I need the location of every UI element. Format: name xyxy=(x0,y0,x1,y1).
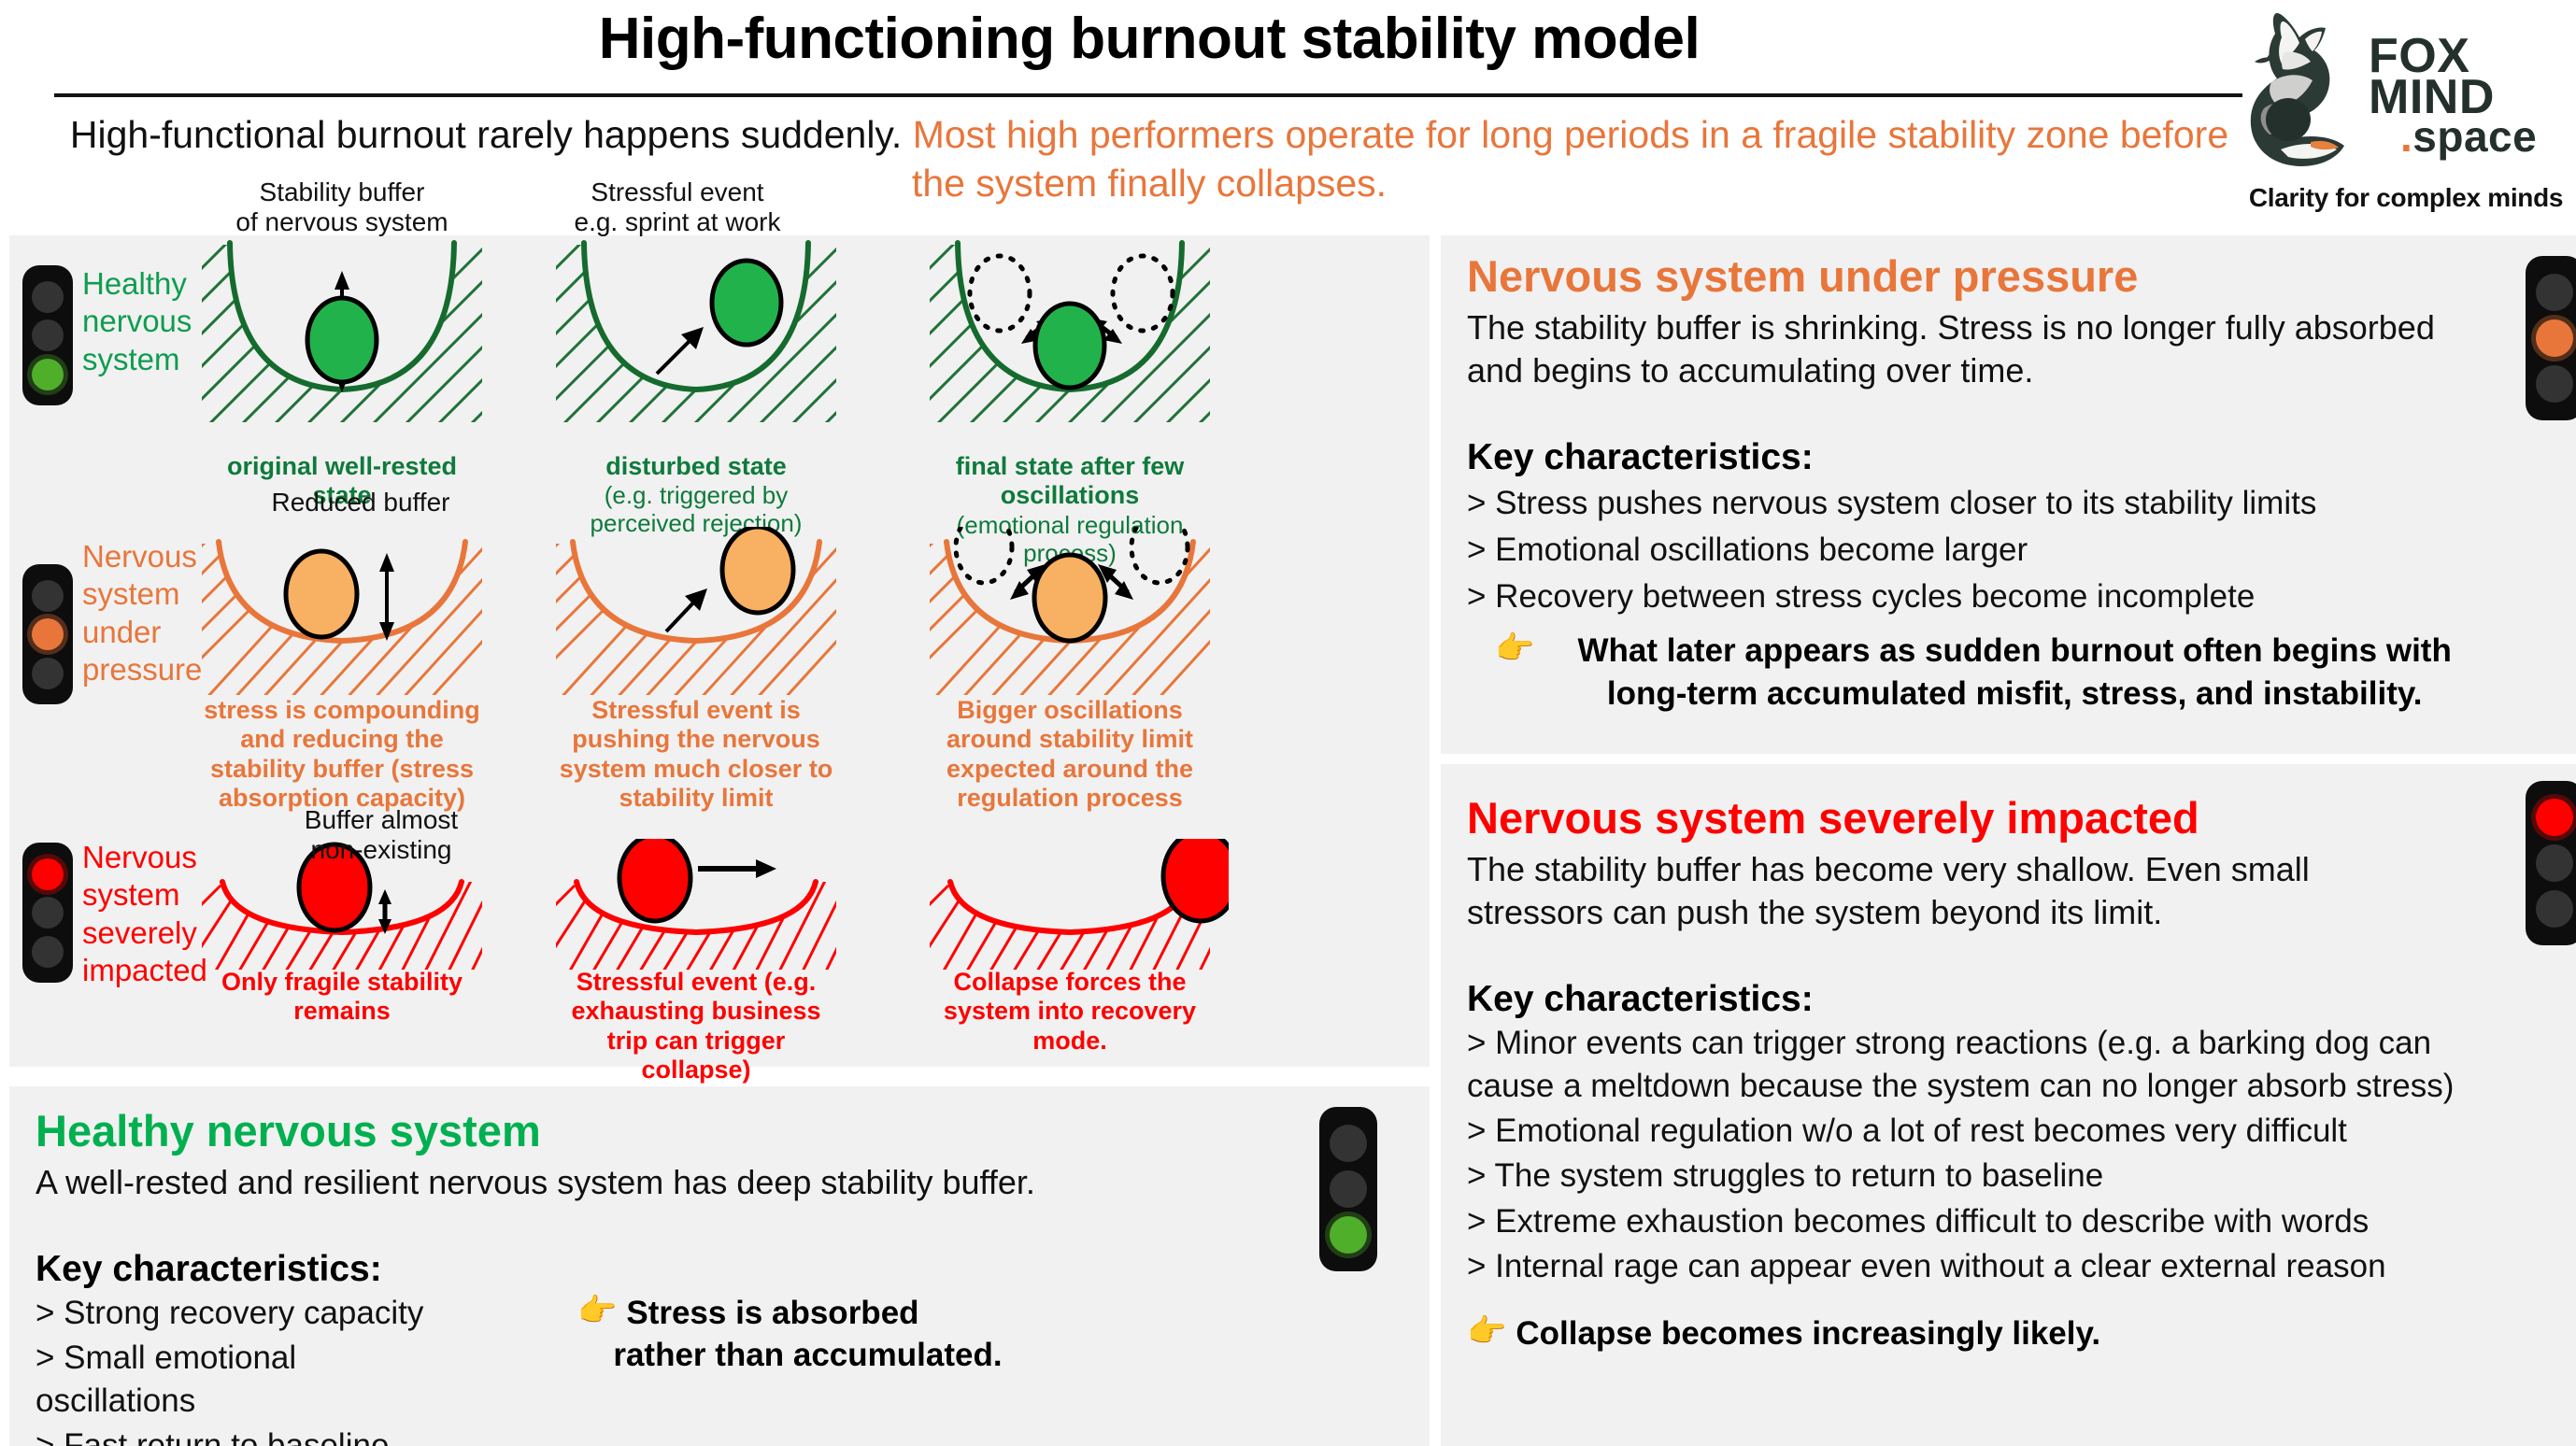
traffic-light-red-panel xyxy=(2526,781,2576,945)
traffic-light-orange xyxy=(22,564,73,704)
lamp-yellow xyxy=(32,319,64,351)
severe-key-heading: Key characteristics: xyxy=(1467,979,2523,1020)
diagram-row-healthy: Healthy nervous system xyxy=(9,235,1430,527)
caption-healthy-2: disturbed state (e.g. triggered by perce… xyxy=(556,452,836,538)
lamp-red xyxy=(32,580,64,612)
row-label-healthy: Healthy nervous system xyxy=(82,265,198,378)
diagram-cell-healthy-1: Stability bufferof nervous system origin… xyxy=(202,235,482,511)
note-stressful-event: Stressful evente.g. sprint at work xyxy=(537,177,818,237)
healthy-heading: Healthy nervous system xyxy=(36,1107,1297,1155)
well-shallow-orange-1 xyxy=(202,527,482,700)
subtitle-part-accent: Most high performers operate for long pe… xyxy=(912,113,2228,205)
lamp-green xyxy=(2536,365,2573,403)
diagram-row-pressure: Nervous system under pressure xyxy=(9,527,1430,826)
diagram-cell-healthy-3: final state after few oscillations (emot… xyxy=(930,235,1210,567)
lamp-green xyxy=(32,658,64,689)
severe-bullet-2: > Emotional regulation w/o a lot of rest… xyxy=(1467,1110,2523,1153)
title-divider xyxy=(54,93,2242,97)
healthy-bullet-3: > Fast return to baseline xyxy=(36,1425,465,1446)
severe-bullet-3: > The system struggles to return to base… xyxy=(1467,1155,2523,1198)
diagram-cell-pressure-2: Stressful event is pushing the nervous s… xyxy=(556,527,836,813)
caption-healthy-2-main: disturbed state xyxy=(605,452,787,480)
traffic-light-orange-panel xyxy=(2526,256,2576,420)
lamp-yellow xyxy=(32,897,64,929)
lamp-yellow xyxy=(2536,844,2573,882)
caption-severe-3: Collapse forces the system into recovery… xyxy=(930,968,1210,1056)
pointer-icon: 👉 xyxy=(577,1292,617,1329)
well-shallow-orange-2 xyxy=(556,527,836,700)
page-title: High-functioning burnout stability model xyxy=(56,6,2242,72)
healthy-body: A well-rested and resilient nervous syst… xyxy=(36,1161,1297,1204)
caption-healthy-3-main: final state after few oscillations xyxy=(956,452,1185,509)
pressure-note: What later appears as sudden burnout oft… xyxy=(1544,630,2485,715)
severe-heading: Nervous system severely impacted xyxy=(1467,794,2523,843)
well-shallow-orange-3 xyxy=(930,527,1210,700)
pressure-body: The stability buffer is shrinking. Stres… xyxy=(1467,306,2485,392)
diagram-cell-severe-3: Collapse forces the system into recovery… xyxy=(930,839,1210,1056)
caption-pressure-3: Bigger oscillations around stability lim… xyxy=(930,696,1210,813)
lamp-green-on xyxy=(32,359,64,390)
well-flat-red-3 xyxy=(930,839,1229,970)
lamp-orange-on xyxy=(2536,319,2573,357)
severe-info-panel: Nervous system severely impacted The sta… xyxy=(1441,764,2576,1446)
healthy-bullet-2: > Small emotional oscillations xyxy=(36,1337,465,1423)
severe-bullet-4: > Extreme exhaustion becomes difficult t… xyxy=(1467,1200,2523,1243)
lamp-red-on xyxy=(2536,799,2573,836)
healthy-info-panel: Healthy nervous system A well-rested and… xyxy=(9,1086,1430,1446)
pointer-icon: 👉 xyxy=(1467,1312,1506,1355)
pressure-heading: Nervous system under pressure xyxy=(1467,252,2485,301)
diagram-cell-severe-1: Buffer almostnon-existing Only fragile s… xyxy=(202,839,482,1027)
well-deep-green-3 xyxy=(930,235,1210,450)
caption-pressure-2: Stressful event is pushing the nervous s… xyxy=(556,696,836,813)
lamp-red xyxy=(32,281,64,313)
caption-severe-2: Stressful event (e.g. exhausting busines… xyxy=(556,968,836,1084)
brand-logo: FOX MIND .space Clarity for complex mind… xyxy=(2240,4,2572,228)
pressure-bullet-2: > Emotional oscillations become larger xyxy=(1467,529,2485,572)
well-deep-green-1 xyxy=(202,235,482,450)
healthy-note-line2: rather than accumulated. xyxy=(613,1334,1002,1377)
severe-note: Collapse becomes increasingly likely. xyxy=(1516,1312,2100,1355)
pressure-bullet-3: > Recovery between stress cycles become … xyxy=(1467,575,2485,618)
traffic-light-green-panel xyxy=(1319,1107,1377,1271)
logo-dot: . xyxy=(2400,112,2412,161)
diagram-cell-healthy-2: Stressful evente.g. sprint at work distu… xyxy=(556,235,836,538)
lamp-green xyxy=(2536,890,2573,928)
row-label-pressure: Nervous system under pressure xyxy=(82,538,198,688)
logo-line-space: .space xyxy=(2400,119,2537,156)
caption-pressure-1: stress is compounding and reducing the s… xyxy=(202,696,482,813)
lamp-green-on xyxy=(1330,1216,1367,1254)
lamp-red xyxy=(1330,1125,1367,1162)
diagram-cell-severe-2: Stressful event (e.g. exhausting busines… xyxy=(556,839,836,1084)
pressure-bullet-1: > Stress pushes nervous system closer to… xyxy=(1467,482,2485,525)
traffic-light-red xyxy=(22,843,73,983)
caption-severe-1: Only fragile stability remains xyxy=(202,968,482,1027)
well-deep-green-2 xyxy=(556,235,836,450)
note-buffer-almost-none: Buffer almostnon-existing xyxy=(241,805,521,865)
note-reduced-buffer: Reduced buffer xyxy=(221,488,501,517)
healthy-note-line1: Stress is absorbed xyxy=(626,1292,1002,1335)
lamp-yellow xyxy=(1330,1170,1367,1208)
pressure-key-heading: Key characteristics: xyxy=(1467,437,2485,478)
lamp-green xyxy=(32,936,64,968)
severe-bullet-1: > Minor events can trigger strong reacti… xyxy=(1467,1022,2523,1108)
diagram-cell-pressure-3: Bigger oscillations around stability lim… xyxy=(930,527,1210,813)
well-flat-red-2 xyxy=(556,839,836,970)
severe-bullet-5: > Internal rage can appear even without … xyxy=(1467,1245,2523,1288)
diagram-row-severe: Nervous system severely impacted xyxy=(9,826,1430,1067)
pressure-info-panel: Nervous system under pressure The stabil… xyxy=(1441,235,2576,754)
fox-logo-icon xyxy=(2240,9,2363,182)
severe-body: The stability buffer has become very sha… xyxy=(1467,848,2439,934)
pointer-icon: 👉 xyxy=(1495,630,1534,715)
subtitle-part-black: High-functional burnout rarely happens s… xyxy=(70,113,902,156)
diagram-panel: Healthy nervous system xyxy=(9,235,1430,1067)
row-label-severe: Nervous system severely impacted xyxy=(82,839,198,989)
logo-space-word: space xyxy=(2412,112,2537,161)
traffic-light-green xyxy=(22,265,73,405)
lamp-red xyxy=(2536,274,2573,311)
note-stability-buffer: Stability bufferof nervous system xyxy=(202,177,482,237)
lamp-orange-on xyxy=(32,618,64,650)
diagram-cell-pressure-1: Reduced buffer stress is compounding and… xyxy=(202,527,482,813)
healthy-bullet-1: > Strong recovery capacity xyxy=(36,1292,465,1335)
healthy-key-heading: Key characteristics: xyxy=(36,1249,1297,1290)
lamp-red-on xyxy=(32,858,64,890)
brand-tagline: Clarity for complex minds xyxy=(2240,183,2572,213)
infographic-page: High-functioning burnout stability model… xyxy=(0,0,2576,1446)
